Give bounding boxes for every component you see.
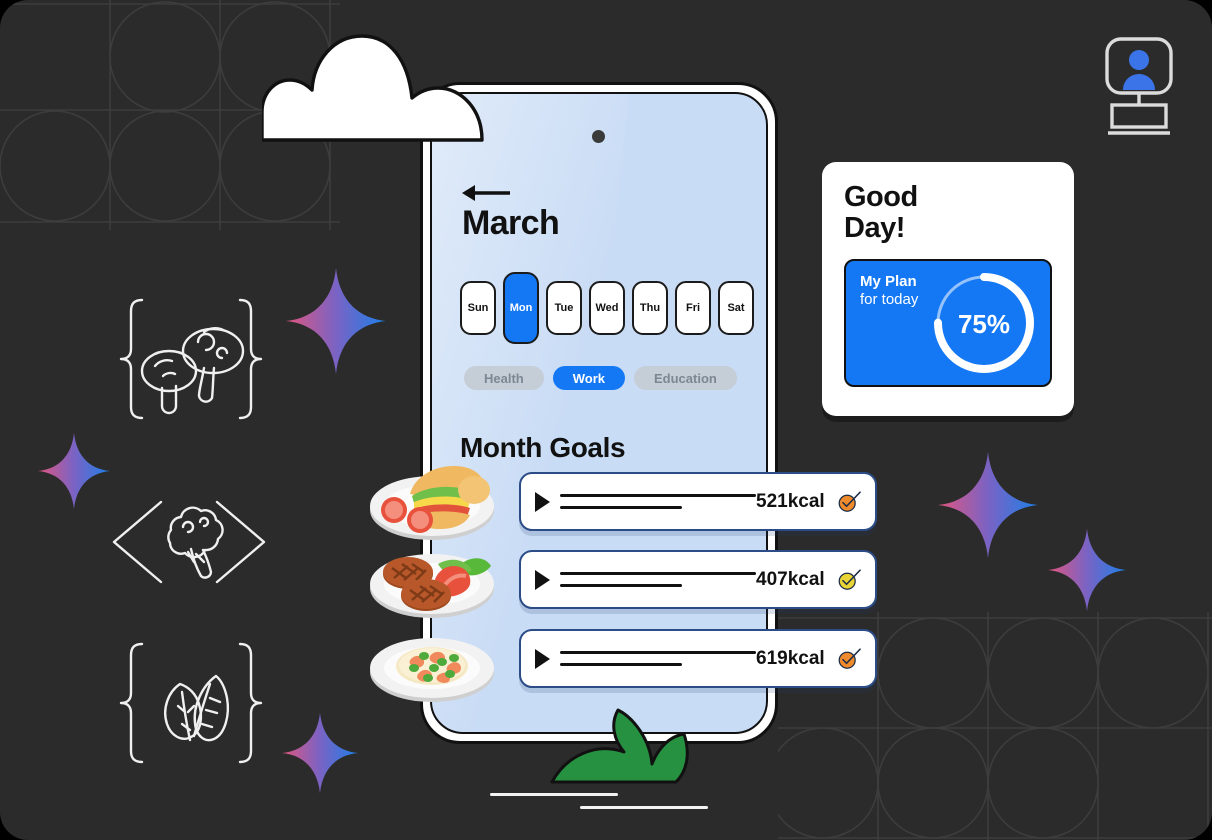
day-chip-sun[interactable]: Sun [460,281,496,335]
day-label: Mon [510,302,533,314]
camera-dot-icon [592,130,605,143]
play-arrow-icon [535,649,550,669]
day-chip-mon[interactable]: Mon [503,272,539,344]
day-selector: Sun Mon Tue Wed Thu Fri Sat [460,272,754,344]
goal-calories: 521kcal [756,491,825,513]
goal-calories: 619kcal [756,648,825,670]
greeting-line-2: Day! [844,213,1052,244]
day-label: Thu [640,302,660,314]
broccoli-icon [108,492,270,592]
check-badge-icon[interactable] [838,563,861,597]
illustration-canvas: March Sun Mon Tue Wed Thu Fri Sat Health… [0,0,1212,840]
category-pill-education[interactable]: Education [634,366,737,390]
good-day-card: Good Day! My Plan for today 75% [822,162,1074,416]
decor-line [490,793,618,796]
day-chip-wed[interactable]: Wed [589,281,625,335]
category-pill-health[interactable]: Health [464,366,544,390]
section-title: Month Goals [460,432,625,464]
goal-calories: 407kcal [756,569,825,591]
day-label: Tue [555,302,574,314]
avatar-head-icon [1129,50,1149,70]
goal-row[interactable]: 619kcal [519,629,877,688]
day-label: Sat [727,302,744,314]
day-chip-tue[interactable]: Tue [546,281,582,335]
my-plan-panel[interactable]: My Plan for today 75% [844,259,1052,387]
goal-text-placeholder [560,651,756,666]
day-label: Wed [595,302,618,314]
progress-label: 75% [958,309,1010,339]
progress-ring: 75% [928,267,1040,379]
day-chip-thu[interactable]: Thu [632,281,668,335]
spinach-leaf-icon [118,640,264,774]
day-label: Sun [468,302,489,314]
page-title: March [462,204,559,243]
back-arrow-icon[interactable] [462,184,510,202]
mushroom-icon [118,296,264,430]
goal-text-placeholder [560,494,756,509]
sparkle-icon [1048,528,1126,612]
check-badge-icon[interactable] [838,485,861,519]
monitor-user-icon[interactable] [1104,36,1174,136]
check-badge-icon[interactable] [838,642,861,676]
day-label: Fri [686,302,700,314]
goal-text-placeholder [560,572,756,587]
sparkle-icon [286,268,386,374]
decor-line [580,806,708,809]
category-filter: Health Work Education [464,366,737,390]
day-chip-sat[interactable]: Sat [718,281,754,335]
goal-row[interactable]: 407kcal [519,550,877,609]
play-arrow-icon [535,492,550,512]
day-chip-fri[interactable]: Fri [675,281,711,335]
category-pill-work[interactable]: Work [553,366,625,390]
greeting-line-1: Good [844,182,1052,213]
sparkle-icon [38,432,110,510]
sparkle-icon [938,452,1038,558]
sparkle-icon [282,712,358,794]
goal-row[interactable]: 521kcal [519,472,877,531]
avatar-body-icon [1123,74,1155,90]
background-grid-top-left [0,0,340,230]
play-arrow-icon [535,570,550,590]
